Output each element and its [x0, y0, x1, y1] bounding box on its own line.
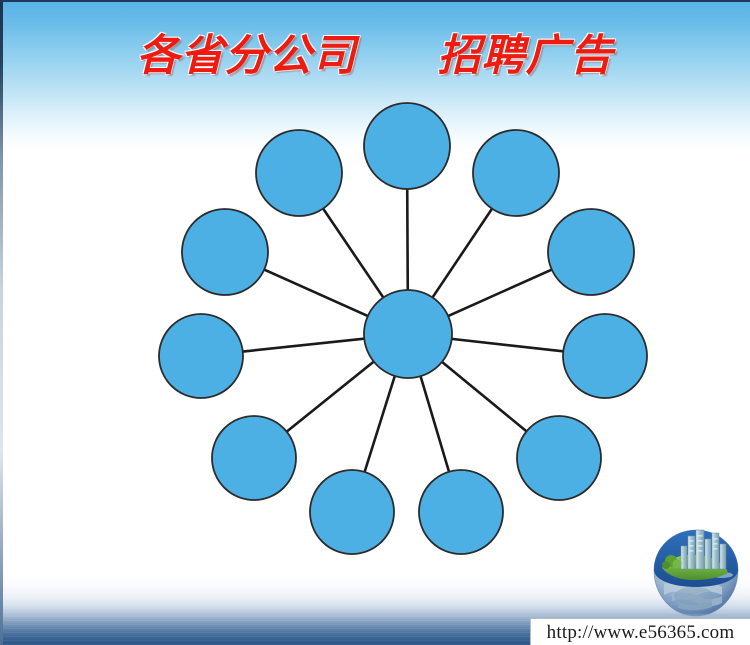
branch-node-circle-8[interactable] — [212, 416, 296, 500]
spoke-line — [323, 208, 384, 299]
url-watermark-box: http://www.e56365.com — [530, 618, 750, 645]
spoke-line — [420, 375, 449, 472]
spoke-line — [286, 361, 375, 432]
branch-node-circle-6[interactable] — [419, 470, 503, 554]
spoke-line — [364, 375, 395, 473]
spoke-line — [451, 339, 565, 352]
spoke-line — [432, 208, 493, 298]
branch-node-circle-2[interactable] — [473, 130, 559, 216]
globe-city-logo — [648, 528, 744, 620]
branch-node-circle-5[interactable] — [517, 416, 601, 500]
city-skyline — [681, 530, 726, 569]
hub-node-circle[interactable] — [364, 290, 452, 378]
branch-node-circle-7[interactable] — [310, 470, 394, 554]
branch-node-circle-3[interactable] — [548, 209, 634, 295]
branch-node-circle-10[interactable] — [182, 209, 268, 295]
spoke-line — [447, 269, 552, 316]
spoke-line — [263, 269, 368, 316]
branch-node-circle-11[interactable] — [256, 130, 342, 216]
spoke-line — [407, 188, 408, 291]
hub-and-spoke-diagram — [0, 0, 750, 645]
slide-canvas: 各省分公司 招聘广告 — [0, 0, 750, 645]
branch-node-circle-4[interactable] — [563, 314, 647, 398]
hub-circle-group — [364, 290, 452, 378]
spoke-line — [242, 339, 365, 352]
branch-node-circle-1[interactable] — [364, 103, 450, 189]
branch-node-circle-9[interactable] — [159, 314, 243, 398]
spoke-line — [441, 361, 527, 432]
watermark-url-text: http://www.e56365.com — [547, 623, 735, 642]
